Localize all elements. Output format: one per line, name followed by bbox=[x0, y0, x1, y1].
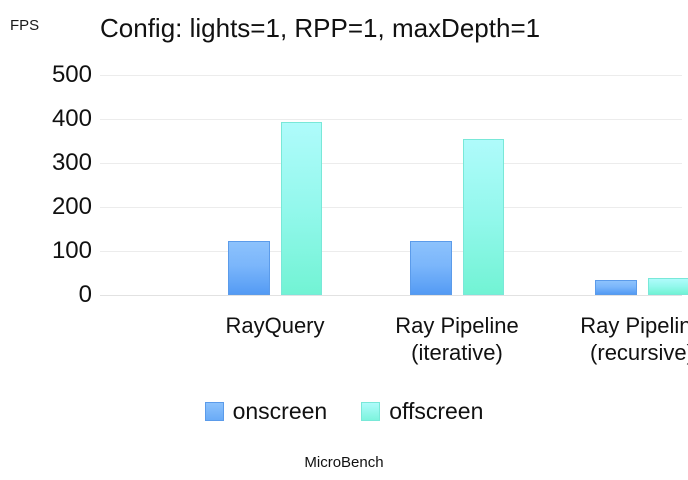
legend-item-onscreen[interactable]: onscreen bbox=[205, 400, 328, 423]
category-label-line: Ray Pipeline bbox=[532, 312, 688, 339]
legend-item-offscreen[interactable]: offscreen bbox=[361, 400, 483, 423]
plot-region: 5004003002001000 RayQueryRay Pipeline(it… bbox=[0, 0, 688, 320]
y-axis-tick-label: 500 bbox=[2, 63, 92, 87]
y-axis-tick-label: 100 bbox=[2, 239, 92, 263]
bar-offscreen bbox=[648, 278, 688, 295]
plot-area bbox=[100, 75, 682, 295]
y-axis-tick-label: 200 bbox=[2, 195, 92, 219]
bar-onscreen bbox=[228, 241, 270, 295]
gridline bbox=[100, 295, 682, 296]
bar-onscreen bbox=[410, 241, 452, 295]
legend-label: onscreen bbox=[233, 400, 328, 423]
gridline bbox=[100, 207, 682, 208]
x-axis-title: MicroBench bbox=[0, 455, 688, 470]
y-axis-tick-label: 400 bbox=[2, 107, 92, 131]
y-axis-tick-label: 0 bbox=[2, 283, 92, 307]
gridline bbox=[100, 119, 682, 120]
x-axis-category-label: Ray Pipeline(recursive) bbox=[532, 312, 688, 367]
bar-offscreen bbox=[463, 139, 504, 295]
legend-swatch-icon bbox=[361, 402, 380, 421]
gridline bbox=[100, 163, 682, 164]
legend-swatch-icon bbox=[205, 402, 224, 421]
bar-offscreen bbox=[281, 122, 322, 295]
legend-label: offscreen bbox=[389, 400, 483, 423]
legend: onscreenoffscreen bbox=[0, 400, 688, 423]
gridline bbox=[100, 251, 682, 252]
bar-onscreen bbox=[595, 280, 637, 295]
gridline bbox=[100, 75, 682, 76]
category-label-line: (recursive) bbox=[532, 339, 688, 366]
y-axis-tick-label: 300 bbox=[2, 151, 92, 175]
